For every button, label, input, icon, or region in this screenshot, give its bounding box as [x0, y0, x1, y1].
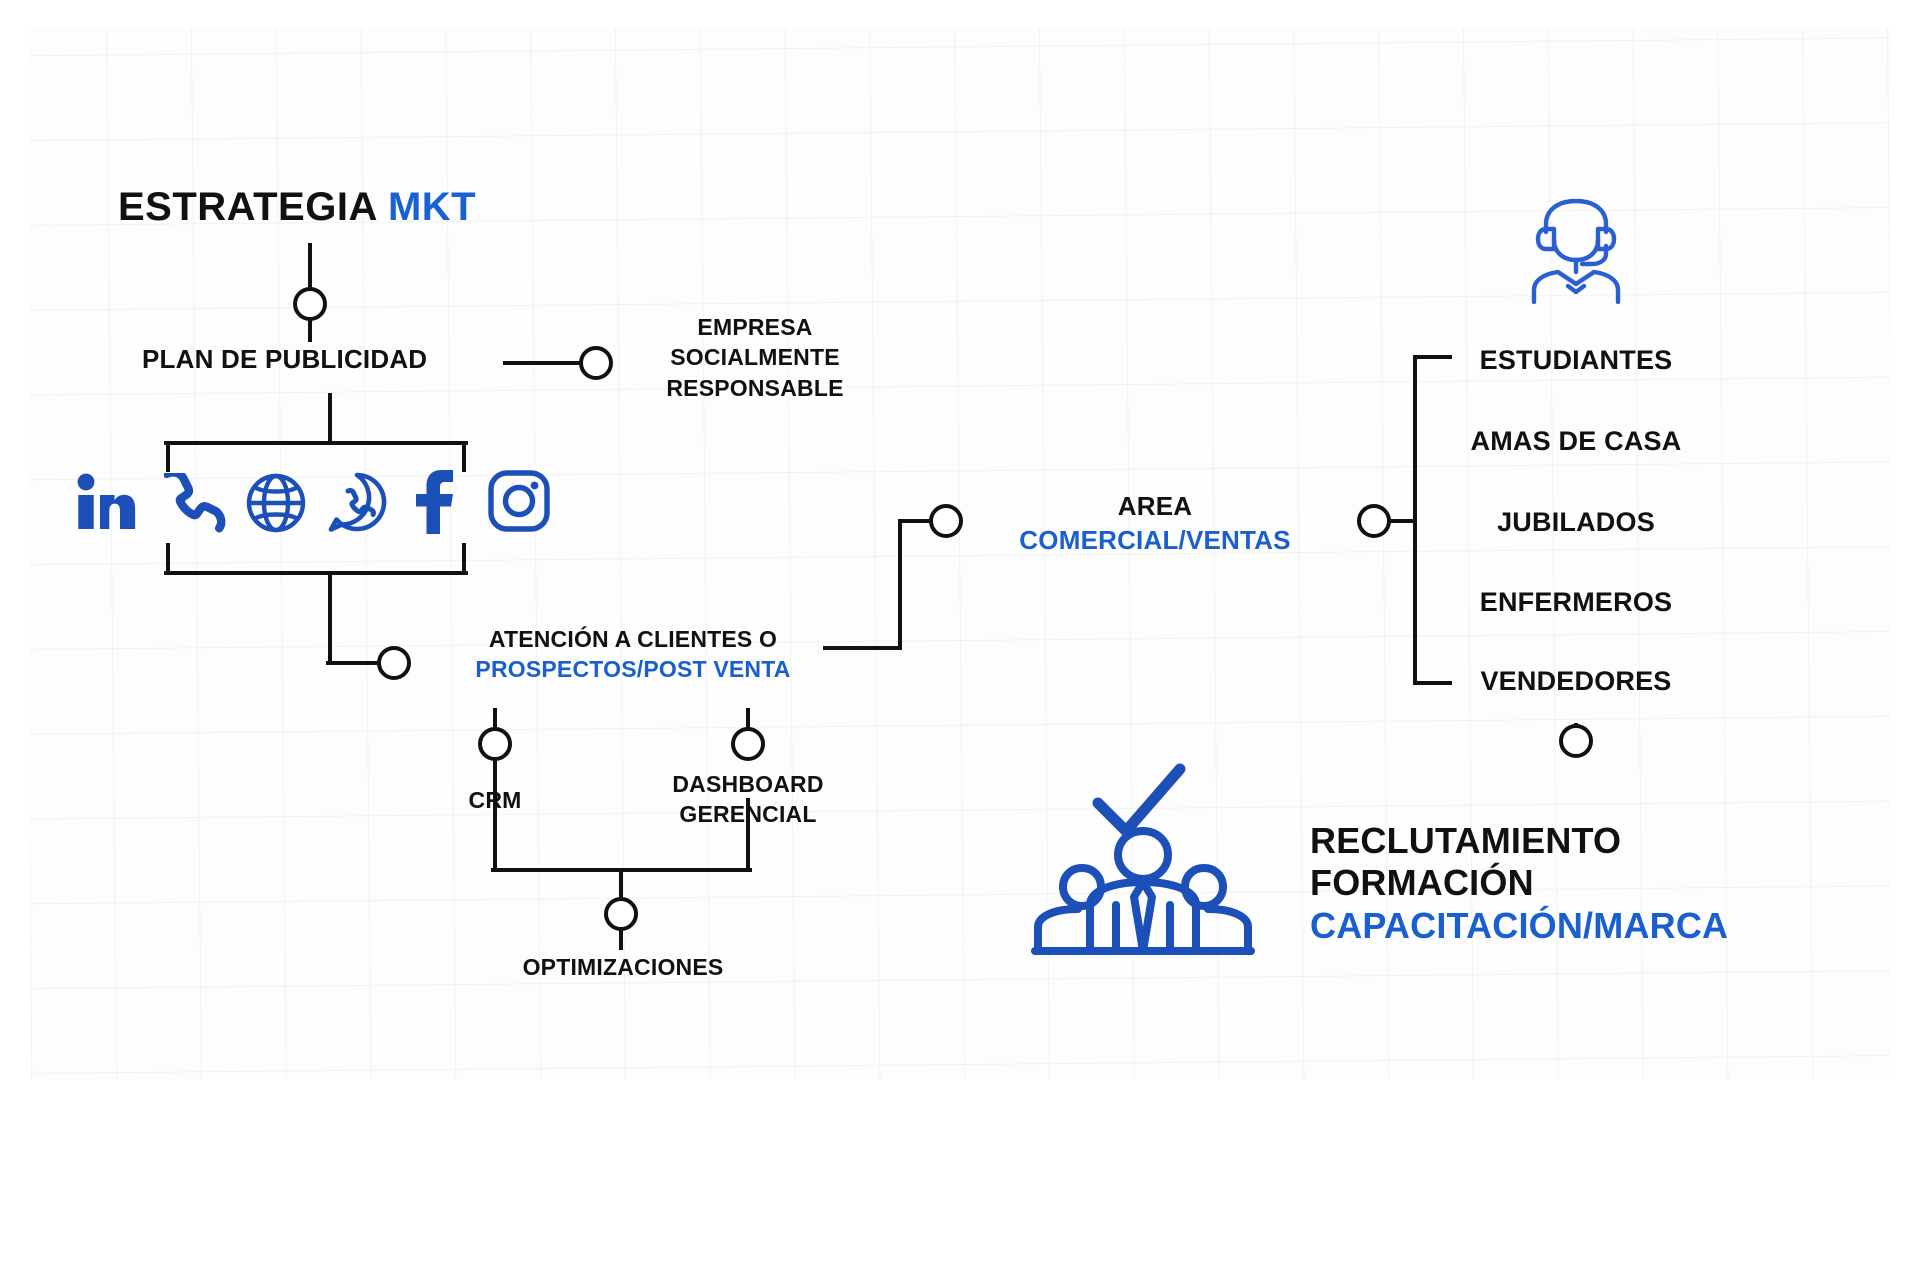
- headset-agent-icon: [1524, 196, 1628, 304]
- phone-icon[interactable]: [164, 473, 226, 533]
- linkedin-icon[interactable]: [77, 473, 137, 531]
- margin-bottom: [0, 1080, 1920, 1280]
- globe-icon[interactable]: [245, 472, 307, 534]
- area-line-black: AREA: [1118, 491, 1192, 521]
- atencion-line-blue: PROSPECTOS/POST VENTA: [475, 656, 790, 682]
- node-plan-de-publicidad: PLAN DE PUBLICIDAD: [142, 345, 427, 374]
- audience-item-estudiantes: ESTUDIANTES: [1480, 345, 1673, 375]
- audience-item-vendedores: VENDEDORES: [1480, 666, 1671, 696]
- node-atencion-clientes: ATENCIÓN A CLIENTES OPROSPECTOS/POST VEN…: [475, 625, 790, 685]
- instagram-icon[interactable]: [488, 470, 550, 532]
- reclu-line-1: RECLUTAMIENTO: [1310, 820, 1621, 861]
- node-empresa-socialmente-responsable: EMPRESA SOCIALMENTE RESPONSABLE: [666, 312, 843, 403]
- margin-top: [0, 0, 1920, 28]
- facebook-icon[interactable]: [410, 468, 458, 534]
- atencion-line-black: ATENCIÓN A CLIENTES O: [489, 626, 777, 652]
- audience-item-enfermeros: ENFERMEROS: [1480, 587, 1673, 617]
- node-dashboard-gerencial: DASHBOARD GERENCIAL: [672, 770, 823, 830]
- whatsapp-icon[interactable]: [325, 471, 389, 535]
- diagram-canvas: ESTRATEGIA MKT PLAN DE PUBLICIDAD EMPRES…: [0, 0, 1920, 1280]
- page-title: ESTRATEGIA MKT: [118, 185, 476, 230]
- reclu-line-3: CAPACITACIÓN/MARCA: [1310, 905, 1728, 946]
- reclu-line-2: FORMACIÓN: [1310, 862, 1534, 903]
- title-accent: MKT: [388, 185, 476, 229]
- node-area-comercial: AREACOMERCIAL/VENTAS: [1019, 490, 1290, 558]
- title-main: ESTRATEGIA: [118, 185, 388, 229]
- team-check-icon: [1030, 755, 1255, 963]
- node-crm: CRM: [469, 788, 522, 814]
- node-reclutamiento-formacion: RECLUTAMIENTOFORMACIÓNCAPACITACIÓN/MARCA: [1310, 820, 1728, 947]
- audience-item-amas-de-casa: AMAS DE CASA: [1471, 426, 1682, 456]
- node-optimizaciones: OPTIMIZACIONES: [523, 955, 724, 981]
- audience-item-jubilados: JUBILADOS: [1497, 507, 1655, 537]
- area-line-blue: COMERCIAL/VENTAS: [1019, 525, 1290, 555]
